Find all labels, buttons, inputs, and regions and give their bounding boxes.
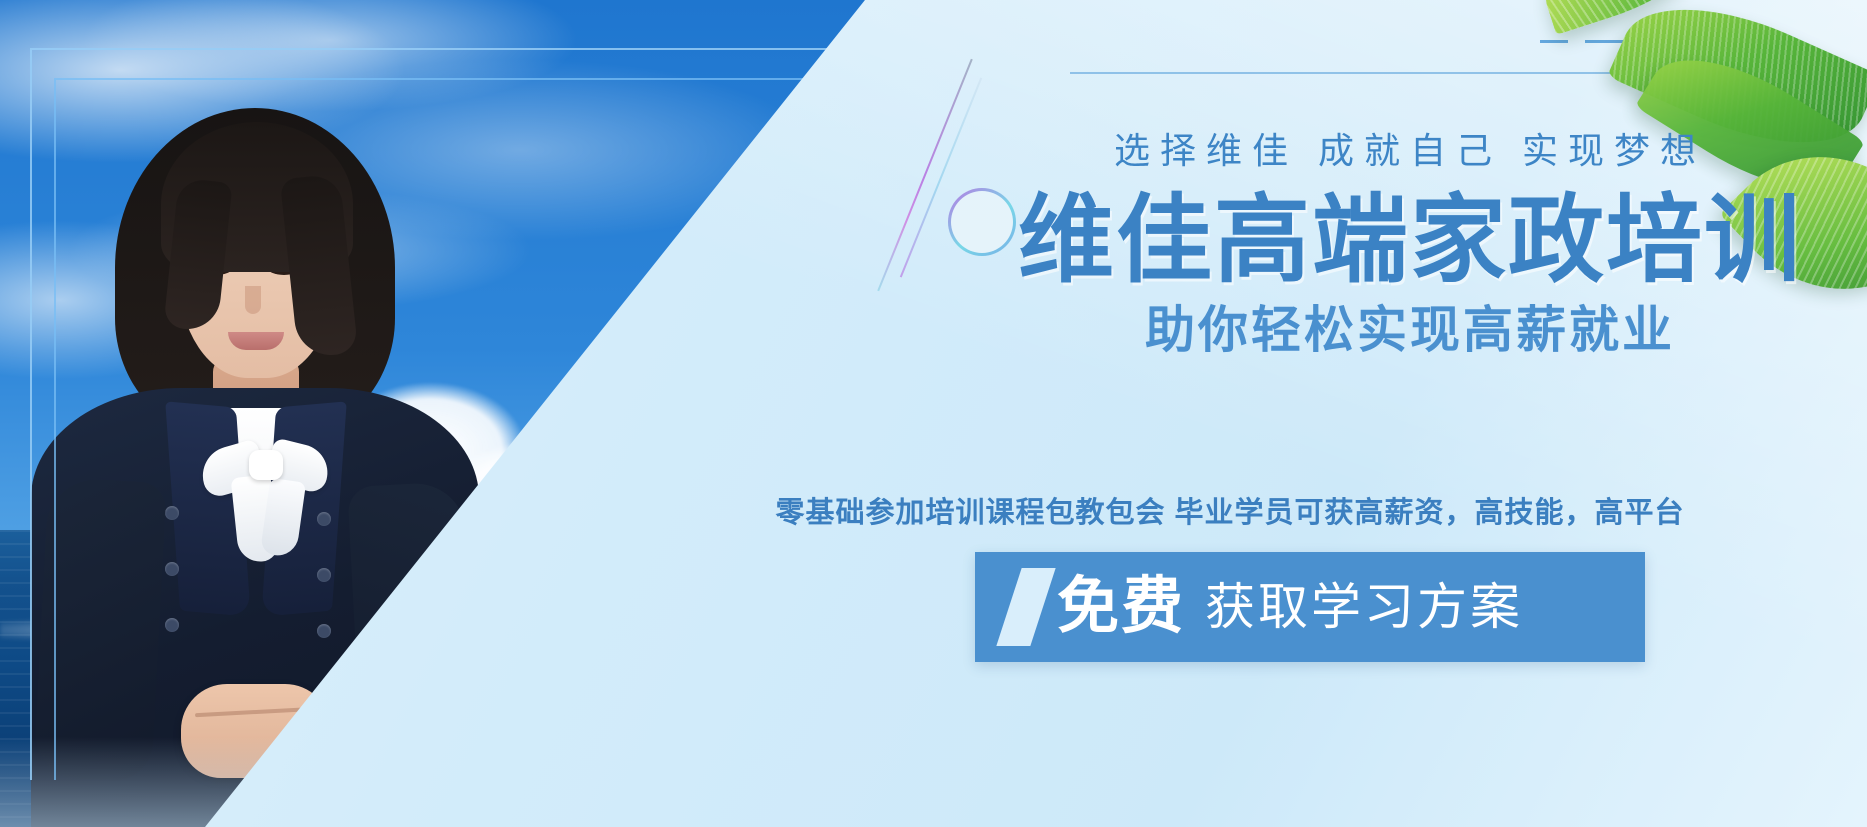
headline-block: 选择维佳 成就自己 实现梦想 维佳高端家政培训 助你轻松实现高薪就业 <box>1000 128 1820 390</box>
promotional-banner: 选择维佳 成就自己 实现梦想 维佳高端家政培训 助你轻松实现高薪就业 零基础参加… <box>0 0 1867 827</box>
accent-rule <box>1585 40 1765 43</box>
bow-knot <box>249 450 283 480</box>
cta-button[interactable]: 免费 获取学习方案 <box>975 552 1645 662</box>
cta-label: 获取学习方案 <box>1205 582 1523 632</box>
accent-rule-long <box>1070 72 1710 74</box>
jacket-button <box>165 506 179 520</box>
slash-accent-icon <box>996 568 1055 646</box>
nose <box>245 286 261 314</box>
arm-left <box>33 477 167 783</box>
bow-tie <box>195 440 335 560</box>
tagline: 选择维佳 成就自己 实现梦想 <box>1000 128 1820 173</box>
body-description: 零基础参加培训课程包教包会 毕业学员可获高薪资，高技能，高平台 <box>620 489 1840 531</box>
jacket-button <box>317 568 331 582</box>
cta-highlight: 免费 <box>1057 576 1185 638</box>
jacket-button <box>165 618 179 632</box>
jacket-button <box>317 512 331 526</box>
page-title: 维佳高端家政培训 <box>1000 191 1820 292</box>
accent-rule-dash <box>1540 40 1568 43</box>
jacket-button <box>165 562 179 576</box>
subtitle: 助你轻松实现高薪就业 <box>1000 300 1820 360</box>
jacket-button <box>317 624 331 638</box>
